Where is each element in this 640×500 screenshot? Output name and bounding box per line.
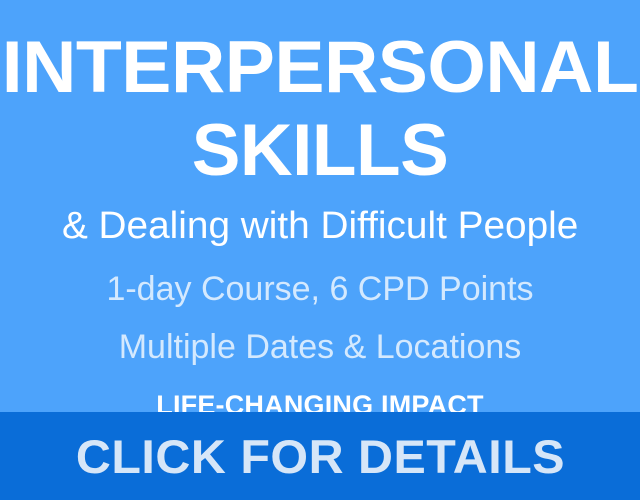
advertisement-banner[interactable]: INTERPERSONAL SKILLS & Dealing with Diff… — [0, 0, 640, 500]
detail-course-duration: 1-day Course, 6 CPD Points — [106, 272, 533, 306]
headline-line-1: INTERPERSONAL — [2, 31, 639, 104]
call-to-action-strip[interactable]: CLICK FOR DETAILS — [0, 412, 640, 500]
detail-dates-locations: Multiple Dates & Locations — [119, 330, 522, 364]
headline-line-2: SKILLS — [192, 114, 449, 187]
banner-message-area: INTERPERSONAL SKILLS & Dealing with Diff… — [0, 0, 640, 412]
subheadline: & Dealing with Difficult People — [62, 207, 578, 245]
cta-label[interactable]: CLICK FOR DETAILS — [75, 433, 564, 480]
